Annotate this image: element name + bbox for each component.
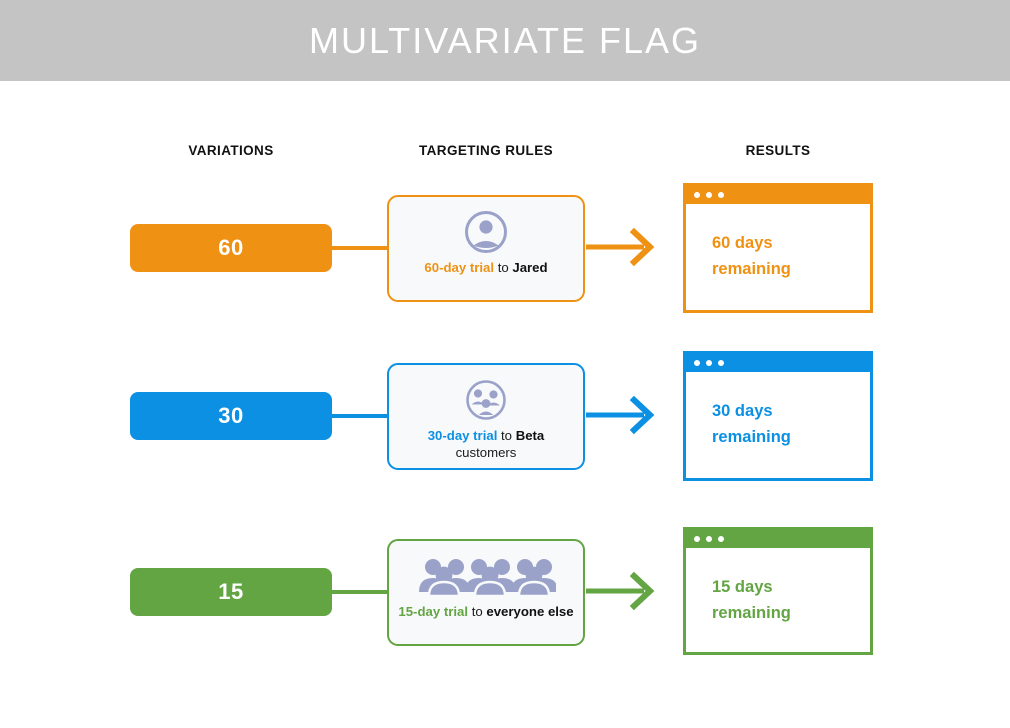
targeting-rule-text: 60-day trial to Jared xyxy=(416,259,555,276)
rule-target: Beta xyxy=(516,428,545,443)
flow-row: 15 xyxy=(0,527,1010,657)
result-text: 60 days remaining xyxy=(686,204,870,282)
connector-line xyxy=(332,414,387,418)
result-window[interactable]: 30 days remaining xyxy=(683,351,873,481)
targeting-rule-card[interactable]: 30-day trial to Beta customers xyxy=(387,363,585,470)
connector-line xyxy=(332,590,387,594)
window-dot-1 xyxy=(694,536,700,542)
variation-pill[interactable]: 30 xyxy=(130,392,332,440)
single-person-avatar-icon xyxy=(464,209,508,255)
variation-value: 30 xyxy=(218,403,243,429)
column-header-results: RESULTS xyxy=(683,143,873,158)
rule-middle: to xyxy=(468,604,486,619)
result-window[interactable]: 60 days remaining xyxy=(683,183,873,313)
variation-value: 60 xyxy=(218,235,243,261)
window-title-bar xyxy=(686,530,870,548)
targeting-rule-text: 30-day trial to Beta customers xyxy=(389,427,583,461)
rule-target: Jared xyxy=(512,260,547,275)
column-header-variations: VARIATIONS xyxy=(130,143,332,158)
window-dot-3 xyxy=(718,536,724,542)
targeting-rule-card[interactable]: 60-day trial to Jared xyxy=(387,195,585,302)
multivariate-flag-diagram: MULTIVARIATE FLAG VARIATIONS TARGETING R… xyxy=(0,0,1010,728)
flow-row: 60 60-day trial to Jared xyxy=(0,183,1010,313)
small-group-icon xyxy=(465,377,507,423)
rule-target: everyone else xyxy=(486,604,573,619)
result-window[interactable]: 15 days remaining xyxy=(683,527,873,655)
window-dot-2 xyxy=(706,360,712,366)
rule-tail: customers xyxy=(456,445,517,460)
window-dot-3 xyxy=(718,360,724,366)
variation-pill[interactable]: 60 xyxy=(130,224,332,272)
flow-arrow-icon xyxy=(586,571,658,611)
result-text: 15 days remaining xyxy=(686,548,870,626)
header-banner: MULTIVARIATE FLAG xyxy=(0,0,1010,81)
flow-arrow-icon xyxy=(586,395,658,435)
window-title-bar xyxy=(686,354,870,372)
targeting-rule-text: 15-day trial to everyone else xyxy=(390,603,581,620)
flow-row: 30 30-day trial to Beta customers xyxy=(0,351,1010,481)
rule-highlight: 30-day trial xyxy=(428,428,498,443)
column-header-targeting-rules: TARGETING RULES xyxy=(386,143,586,158)
result-text: 30 days remaining xyxy=(686,372,870,450)
rule-highlight: 15-day trial xyxy=(398,604,468,619)
page-title: MULTIVARIATE FLAG xyxy=(309,20,701,62)
crowd-of-people-icon xyxy=(416,553,556,599)
rule-middle: to xyxy=(497,428,515,443)
rule-middle: to xyxy=(494,260,512,275)
window-dot-1 xyxy=(694,360,700,366)
variation-pill[interactable]: 15 xyxy=(130,568,332,616)
flow-arrow-icon xyxy=(586,227,658,267)
window-dot-3 xyxy=(718,192,724,198)
window-dot-2 xyxy=(706,536,712,542)
window-dot-1 xyxy=(694,192,700,198)
connector-line xyxy=(332,246,387,250)
variation-value: 15 xyxy=(218,579,243,605)
targeting-rule-card[interactable]: 15-day trial to everyone else xyxy=(387,539,585,646)
window-dot-2 xyxy=(706,192,712,198)
rule-highlight: 60-day trial xyxy=(424,260,494,275)
window-title-bar xyxy=(686,186,870,204)
